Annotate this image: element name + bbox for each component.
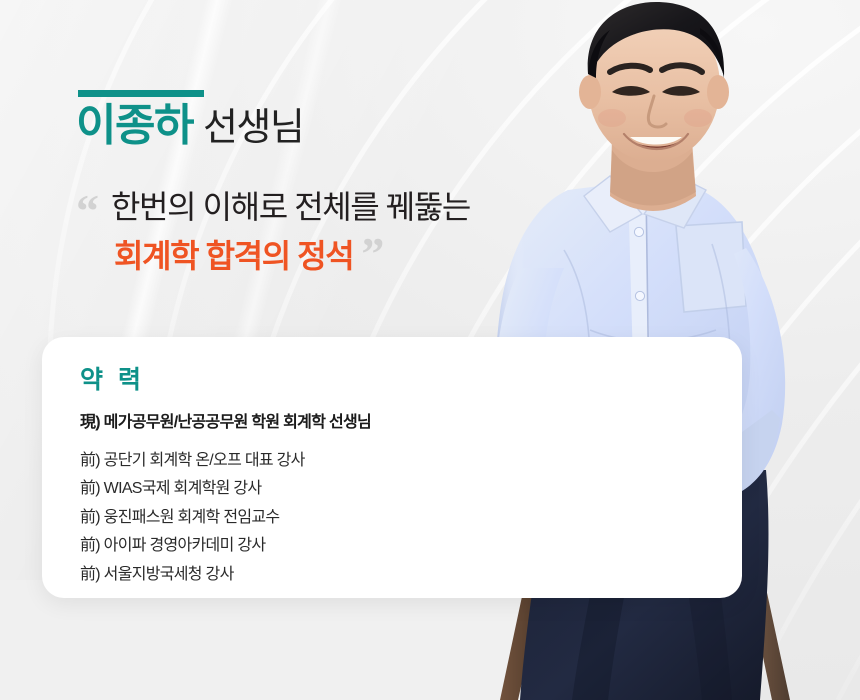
instructor-honorific: 선생님 bbox=[203, 104, 303, 153]
career-current-position: 現) 메가공무원/난공공무원 학원 회계학 선생님 bbox=[80, 411, 371, 435]
career-card-content: 약 력 現) 메가공무원/난공공무원 학원 회계학 선생님 前) 공단기 회계학… bbox=[80, 365, 371, 589]
career-card-title: 약 력 bbox=[80, 365, 371, 395]
instructor-name: 이종하 bbox=[76, 98, 193, 153]
career-previous-list: 前) 공단기 회계학 온/오프 대표 강사 前) WIAS국제 회계학원 강사 … bbox=[80, 447, 371, 589]
tagline-line-2: 회계학 합격의 정석 ” bbox=[76, 233, 470, 276]
list-item: 前) 웅진패스원 회계학 전임교수 bbox=[80, 504, 371, 532]
tagline-quote: “ 한번의 이해로 전체를 꿰뚫는 회계학 합격의 정석 ” bbox=[76, 186, 470, 277]
background-bottom-panel bbox=[0, 580, 520, 700]
list-item: 前) WIAS국제 회계학원 강사 bbox=[80, 475, 371, 503]
quote-open-icon: “ bbox=[76, 190, 99, 231]
tagline-text-1: 한번의 이해로 전체를 꿰뚫는 bbox=[111, 186, 470, 228]
list-item: 前) 서울지방국세청 강사 bbox=[80, 561, 371, 589]
tagline-text-2: 회계학 합격의 정석 bbox=[114, 235, 353, 277]
instructor-profile-banner: 이종하 선생님 “ 한번의 이해로 전체를 꿰뚫는 회계학 합격의 정석 ” 약… bbox=[0, 0, 860, 700]
list-item: 前) 공단기 회계학 온/오프 대표 강사 bbox=[80, 447, 371, 475]
tagline-line-1: “ 한번의 이해로 전체를 꿰뚫는 bbox=[76, 186, 470, 231]
headline-accent-rule bbox=[78, 90, 204, 97]
instructor-name-row: 이종하 선생님 bbox=[76, 98, 303, 153]
quote-close-icon: ” bbox=[361, 233, 384, 274]
career-card: 약 력 現) 메가공무원/난공공무원 학원 회계학 선생님 前) 공단기 회계학… bbox=[42, 337, 742, 598]
list-item: 前) 아이파 경영아카데미 강사 bbox=[80, 532, 371, 560]
